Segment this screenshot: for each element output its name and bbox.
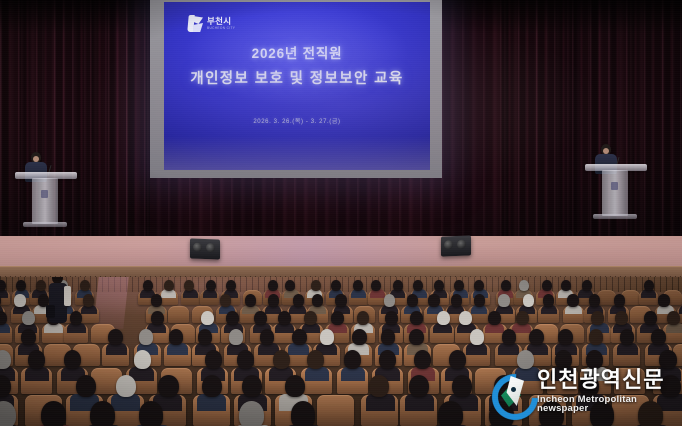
attendee-head — [523, 294, 534, 306]
podium-emblem — [611, 182, 618, 190]
attendee-head — [331, 311, 344, 325]
attendee-shoulders — [466, 343, 487, 355]
stage-light-tint — [0, 236, 682, 268]
attendee-head — [237, 350, 254, 369]
watermark-korean-name: 인천광역신문 — [537, 369, 678, 391]
attendee-head — [293, 294, 304, 306]
attendee-head — [169, 329, 184, 345]
attendee-head — [407, 294, 418, 306]
attendee-shoulders — [167, 343, 188, 355]
attendee-head — [116, 375, 136, 397]
standing-attendee-bag — [46, 305, 55, 318]
attendee-head — [254, 311, 267, 325]
attendee-head — [371, 280, 381, 291]
attendee-head — [21, 329, 36, 345]
attendee-head — [474, 294, 485, 306]
attendee-head — [108, 329, 123, 345]
attendee-head — [615, 311, 628, 325]
attendee-head — [16, 280, 26, 291]
attendee-head — [558, 329, 573, 345]
attendee-head — [41, 401, 66, 426]
attendee-head — [449, 350, 466, 369]
attendee-head — [502, 329, 517, 345]
attendee-head — [226, 311, 239, 325]
attendee-head — [543, 294, 554, 306]
attendee-head — [357, 311, 370, 325]
attendee-shoulders — [305, 367, 329, 381]
attendee-head — [226, 280, 236, 291]
attendee-head — [658, 294, 669, 306]
attendee-head — [164, 280, 174, 291]
stage-monitor-speaker-left — [190, 238, 220, 259]
attendee-head — [385, 311, 398, 325]
attendee-head — [644, 280, 654, 291]
attendee-head — [229, 329, 244, 345]
attendee-head — [268, 294, 279, 306]
attendee-head — [331, 280, 341, 291]
attendee-head — [582, 280, 592, 291]
auditorium-seat — [317, 395, 354, 426]
attendee-head — [0, 280, 6, 291]
podium-base — [23, 222, 67, 227]
attendee-head — [620, 329, 635, 345]
attendee-head — [28, 350, 45, 369]
attendee-head — [501, 280, 511, 291]
attendee-head — [202, 375, 222, 397]
attendee-head — [589, 329, 604, 345]
attendee-head — [245, 294, 256, 306]
attendee-shoulders — [341, 367, 365, 381]
attendee-head — [260, 329, 275, 345]
podium-body — [32, 178, 58, 224]
attendee-head — [519, 280, 529, 291]
attendee-head — [64, 350, 81, 369]
attendee-head — [437, 311, 450, 325]
attendee-head — [158, 375, 178, 397]
watermark-english-name: Incheon Metropolitan newspaper — [537, 395, 678, 414]
wall-vignette — [0, 0, 682, 262]
attendee-head — [379, 350, 396, 369]
attendee-head — [344, 350, 361, 369]
attendee-head — [414, 350, 431, 369]
attendee-head — [278, 311, 291, 325]
attendee-head — [428, 294, 439, 306]
auditorium-seat — [168, 306, 189, 323]
attendee-head — [268, 280, 278, 291]
attendee-head — [292, 329, 307, 345]
attendee-head — [242, 375, 262, 397]
attendee-head — [474, 280, 484, 291]
attendee-head — [353, 280, 363, 291]
attendee-head — [352, 329, 367, 345]
attendee-head — [273, 350, 290, 369]
attendee-head — [393, 280, 403, 291]
attendee-head — [591, 311, 604, 325]
attendee-head — [90, 401, 115, 426]
attendee-head — [304, 311, 317, 325]
attendee-head — [320, 329, 335, 345]
attendee-head — [614, 294, 625, 306]
photograph-auditorium-training: 부천시 BUCHEON CITY 2026년 전직원 개인정보 보호 및 정보보… — [0, 0, 682, 426]
attendee-shoulders — [25, 367, 49, 381]
attendee-head — [307, 350, 324, 369]
attendee-head — [198, 329, 213, 345]
podium-base — [593, 214, 637, 219]
attendee-shoulders — [617, 343, 638, 355]
attendee-head — [470, 329, 485, 345]
attendee-head — [438, 401, 463, 426]
stage-floor — [0, 236, 682, 268]
attendee-head — [459, 311, 472, 325]
attendee-head — [14, 294, 25, 306]
attendee-head — [311, 280, 321, 291]
attendee-head — [516, 311, 529, 325]
attendee-head — [529, 329, 544, 345]
attendee-head — [239, 401, 264, 426]
attendee-head — [454, 280, 464, 291]
attendee-head — [291, 401, 316, 426]
attendee-head — [644, 311, 657, 325]
attendee-shoulders — [288, 343, 309, 355]
attendee-shoulders — [106, 343, 127, 355]
attendee-head — [206, 280, 216, 291]
attendee-head — [589, 294, 600, 306]
attendee-head — [22, 311, 35, 325]
attendee-head — [451, 294, 462, 306]
attendee-head — [567, 294, 578, 306]
attendee-head — [36, 280, 46, 291]
attendee-head — [139, 401, 164, 426]
attendee-head — [76, 375, 96, 397]
newspaper-watermark: 인천광역신문 Incheon Metropolitan newspaper — [492, 366, 678, 416]
attendee-head — [184, 280, 194, 291]
attendee-head — [542, 280, 552, 291]
attendee-head — [409, 375, 429, 397]
attendee-head — [220, 294, 231, 306]
attendee-head — [498, 294, 509, 306]
attendee-head — [151, 311, 164, 325]
attendee-head — [201, 311, 214, 325]
attendee-head — [285, 280, 295, 291]
attendee-head — [488, 311, 501, 325]
podium-emblem — [41, 190, 48, 198]
attendee-head — [413, 280, 423, 291]
attendee-head — [409, 329, 424, 345]
attendee-head — [561, 280, 571, 291]
attendee-head — [285, 375, 305, 397]
attendee-head — [205, 350, 222, 369]
pen-nib-circle-logo-icon — [492, 371, 532, 411]
podium-body — [602, 170, 628, 216]
attendee-head — [83, 294, 94, 306]
attendee-head — [381, 329, 396, 345]
attendee-head — [312, 294, 323, 306]
attendee-head — [151, 294, 162, 306]
standing-attendee-shirt — [64, 286, 71, 306]
attendee-head — [452, 375, 472, 397]
attendee-head — [434, 280, 444, 291]
attendee-head — [410, 311, 423, 325]
attendee-head — [667, 311, 680, 325]
attendee-head — [139, 329, 154, 345]
attendee-head — [369, 375, 389, 397]
attendee-head — [143, 280, 153, 291]
attendee-shoulders — [498, 343, 519, 355]
attendee-head — [134, 350, 151, 369]
attendee-head — [80, 280, 90, 291]
attendee-head — [651, 329, 666, 345]
stage-monitor-speaker-right — [441, 235, 471, 256]
attendee-head — [384, 294, 395, 306]
attendee-head — [70, 311, 83, 325]
attendee-head — [335, 294, 346, 306]
